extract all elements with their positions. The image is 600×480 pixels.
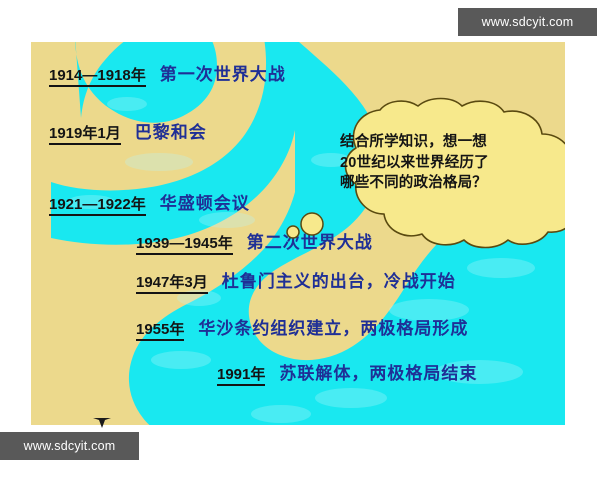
slide-canvas: 1914—1918年第一次世界大战 1919年1月巴黎和会 1921—1922年… (0, 0, 600, 480)
timeline-date: 1947年3月 (136, 274, 208, 294)
timeline-date: 1914—1918年 (49, 67, 146, 87)
timeline-row: 1947年3月杜鲁门主义的出台，冷战开始 (136, 273, 456, 291)
timeline-event: 华盛顿会议 (160, 194, 250, 213)
timeline-row: 1921—1922年华盛顿会议 (49, 195, 250, 213)
timeline-date: 1921—1922年 (49, 196, 146, 216)
timeline-event: 第二次世界大战 (247, 233, 373, 252)
timeline-row: 1914—1918年第一次世界大战 (49, 66, 286, 84)
timeline-date: 1919年1月 (49, 125, 121, 145)
timeline-row: 1955年华沙条约组织建立，两极格局形成 (136, 320, 468, 338)
timeline-event: 第一次世界大战 (160, 65, 286, 84)
timeline-event: 巴黎和会 (135, 123, 207, 142)
pointer-arrow-icon (92, 416, 112, 430)
watermark-bottom: www.sdcyit.com (0, 432, 139, 460)
timeline-event: 杜鲁门主义的出台，冷战开始 (222, 272, 456, 291)
timeline-date: 1991年 (217, 366, 265, 386)
watermark-top: www.sdcyit.com (458, 8, 597, 36)
timeline-row: 1939—1945年第二次世界大战 (136, 234, 373, 252)
timeline-date: 1939—1945年 (136, 235, 233, 255)
timeline-event: 苏联解体，两极格局结束 (279, 364, 477, 383)
timeline-list: 1914—1918年第一次世界大战 1919年1月巴黎和会 1921—1922年… (31, 42, 565, 425)
timeline-date: 1955年 (136, 321, 184, 341)
timeline-row: 1919年1月巴黎和会 (49, 124, 207, 142)
timeline-row: 1991年苏联解体，两极格局结束 (217, 365, 477, 383)
content-panel: 1914—1918年第一次世界大战 1919年1月巴黎和会 1921—1922年… (31, 42, 565, 425)
timeline-event: 华沙条约组织建立，两极格局形成 (198, 319, 468, 338)
